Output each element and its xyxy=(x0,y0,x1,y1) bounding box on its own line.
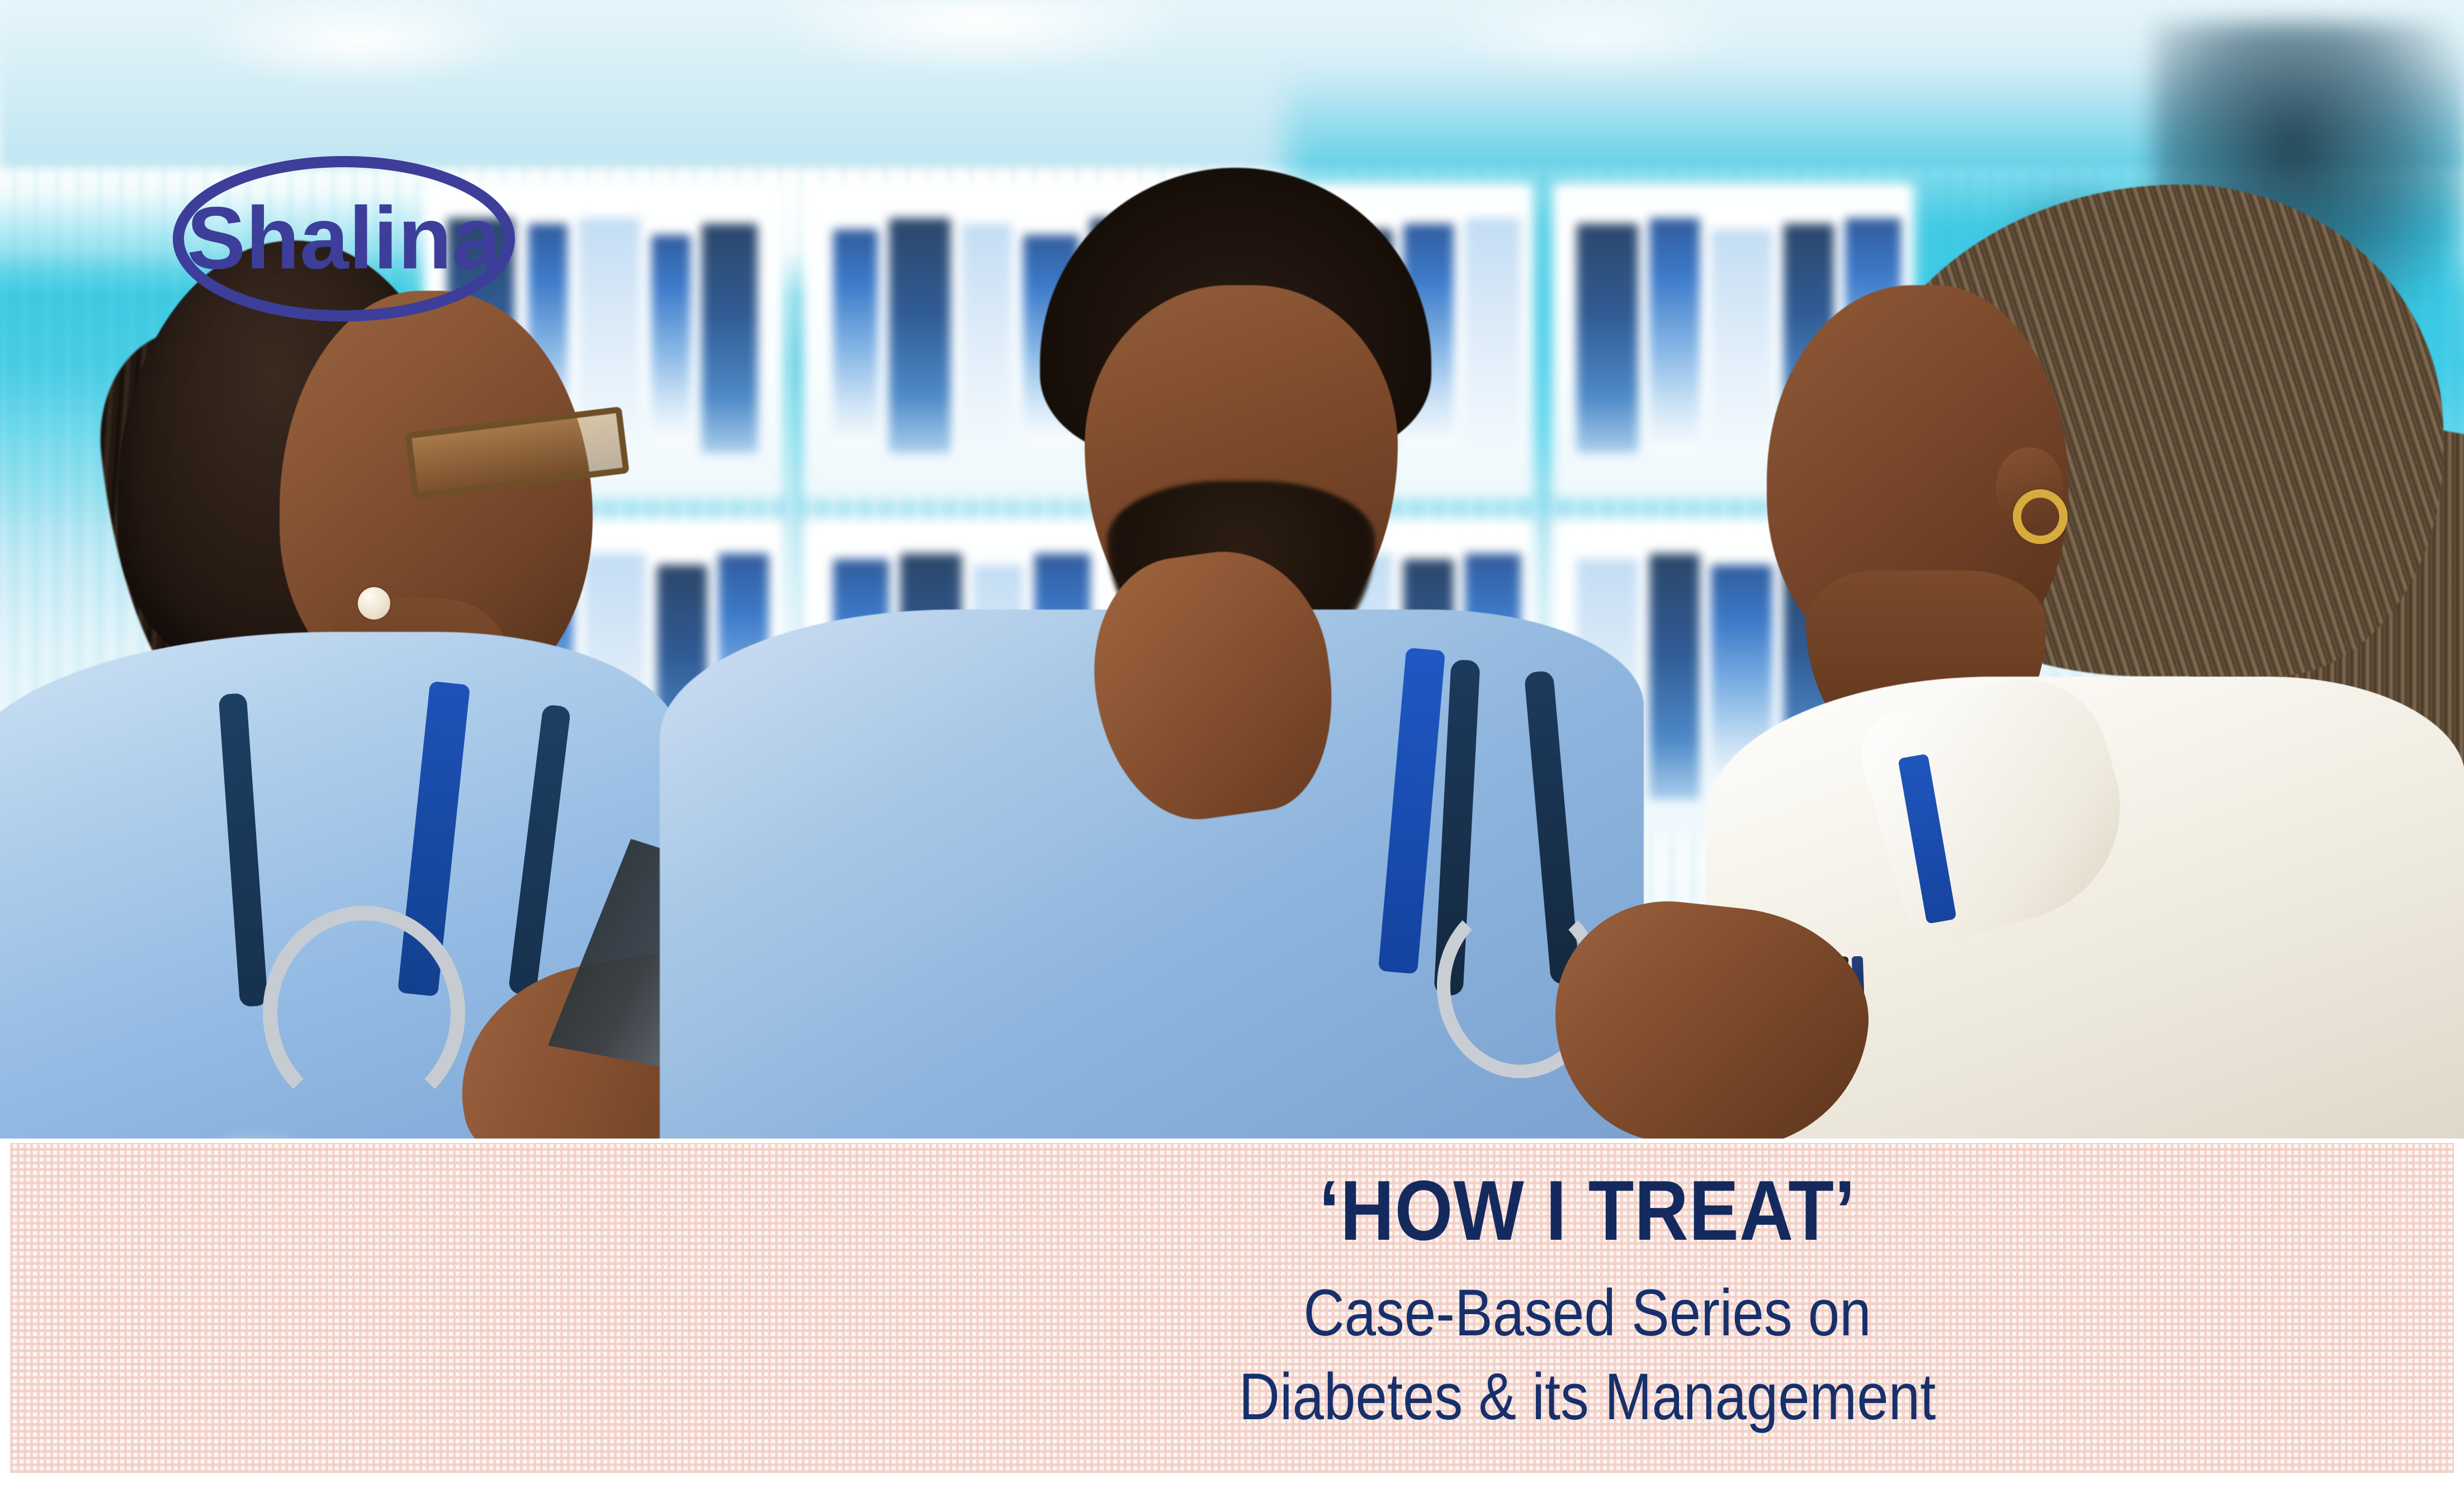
stethoscope-loop-left xyxy=(263,906,465,1120)
poster-canvas: Shalina ‘HOW I TREAT’ Case-Based Series … xyxy=(0,0,2464,1502)
title-banner: ‘HOW I TREAT’ Case-Based Series on Diabe… xyxy=(0,1139,2464,1502)
shalina-logo: Shalina xyxy=(171,154,517,324)
banner-content: ‘HOW I TREAT’ Case-Based Series on Diabe… xyxy=(0,1139,2464,1502)
title-block: ‘HOW I TREAT’ Case-Based Series on Diabe… xyxy=(1106,1168,2068,1438)
person-doctor-right xyxy=(1694,185,2464,1139)
hero-photo: Shalina xyxy=(0,0,2464,1139)
campaign-subtitle-line-2: Diabetes & its Management xyxy=(1174,1357,2000,1438)
hoop-earring-icon xyxy=(2013,489,2068,544)
campaign-title: ‘HOW I TREAT’ xyxy=(1164,1168,2011,1254)
campaign-subtitle-line-1: Case-Based Series on xyxy=(1174,1273,2000,1354)
pearl-earring-icon xyxy=(358,587,390,620)
logo-wordmark: Shalina xyxy=(187,189,502,287)
